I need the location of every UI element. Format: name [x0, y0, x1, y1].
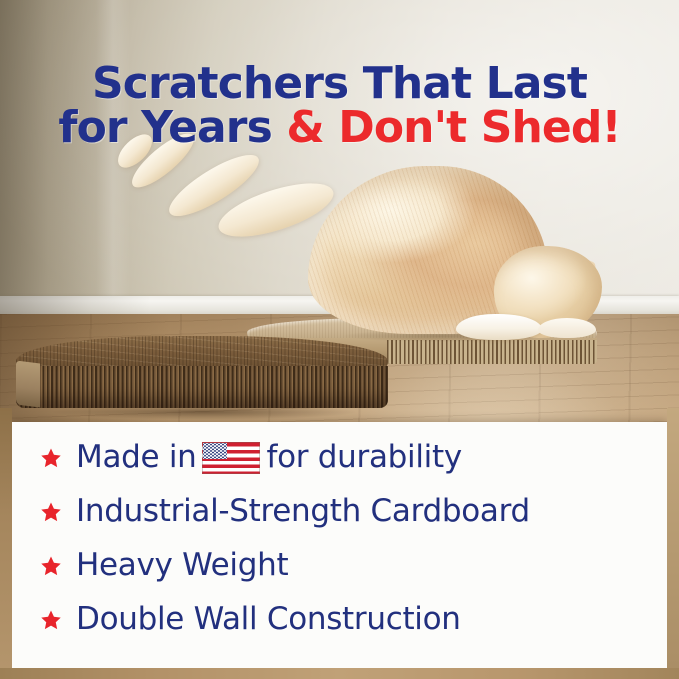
scratcher-dark-top	[16, 336, 388, 370]
star-icon	[40, 555, 62, 577]
cat-tail	[120, 146, 350, 242]
list-item: Heavy Weight	[40, 540, 657, 591]
star-icon	[40, 609, 62, 631]
us-flag-icon	[202, 442, 260, 474]
cardboard-scratcher-dark	[8, 336, 388, 408]
list-item: Industrial-Strength Cardboard	[40, 486, 657, 537]
feature-text-after: for durability	[267, 442, 462, 473]
list-item: Double Wall Construction	[40, 594, 657, 645]
headline: Scratchers That Last for Years & Don't S…	[0, 62, 679, 149]
headline-line-2-red: & Don't Shed!	[286, 102, 620, 153]
list-item: Made in for durability	[40, 432, 657, 483]
headline-line-2: for Years & Don't Shed!	[0, 106, 679, 150]
product-feature-ad: Scratchers That Last for Years & Don't S…	[0, 0, 679, 679]
scratcher-dark-corrugation	[16, 366, 388, 408]
cat-photo	[250, 160, 620, 360]
cat-front-paw	[456, 314, 542, 340]
flag-stars	[203, 443, 227, 459]
feature-text: Heavy Weight	[76, 550, 288, 581]
scratcher-dark-end-cap	[16, 361, 40, 408]
panel-right-edge	[667, 408, 679, 679]
star-icon	[40, 447, 62, 469]
star-icon	[40, 501, 62, 523]
panel-left-edge	[0, 408, 12, 679]
feature-text: Double Wall Construction	[76, 604, 461, 635]
feature-text: Industrial-Strength Cardboard	[76, 496, 530, 527]
feature-text: Made in for durability	[76, 442, 462, 474]
panel-bottom-edge	[0, 668, 679, 679]
cat-second-paw	[538, 318, 596, 338]
scratcher-dark-top-texture	[16, 336, 388, 370]
feature-text-before: Made in	[76, 442, 197, 473]
headline-line-2-navy: for Years	[58, 102, 286, 153]
features-panel: Made in for durability Industrial-Streng…	[12, 422, 667, 668]
headline-line-1: Scratchers That Last	[0, 62, 679, 106]
features-list: Made in for durability Industrial-Streng…	[40, 432, 657, 648]
